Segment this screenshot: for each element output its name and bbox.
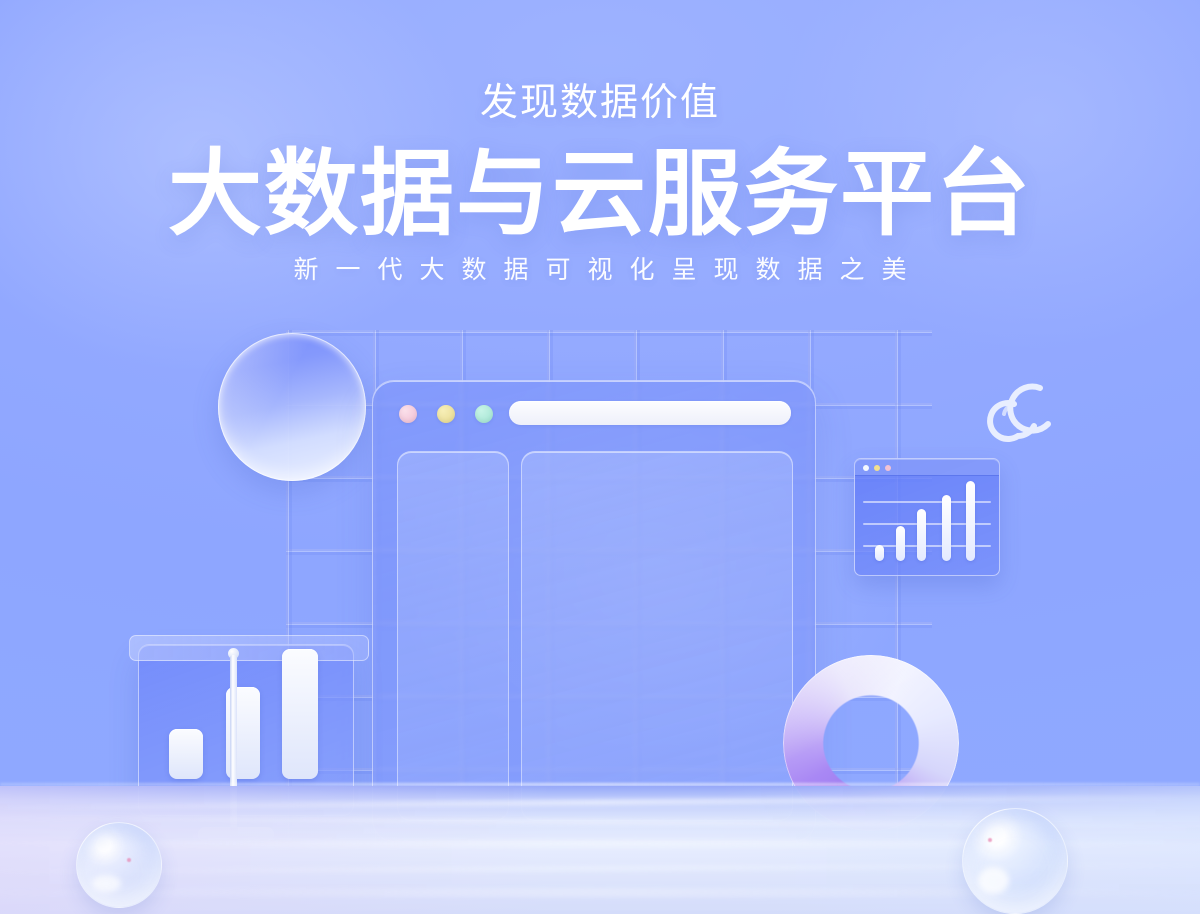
dashboard-bar — [942, 495, 951, 561]
dashboard-bar — [896, 526, 905, 561]
content-pane — [521, 451, 793, 821]
dashboard-bar — [966, 481, 975, 561]
sidebar-pane — [397, 451, 509, 821]
card-bar — [169, 729, 203, 779]
dashboard-dot-2-icon — [874, 465, 880, 471]
traffic-dot-maximize-icon[interactable] — [475, 405, 493, 423]
dashboard-dot-1-icon — [863, 465, 869, 471]
glass-disc — [218, 333, 366, 481]
hero-banner: 发现数据价值 大数据与云服务平台 新一代大数据可视化呈现数据之美 — [0, 0, 1200, 914]
card-header-bar — [129, 635, 369, 661]
disc-rim — [218, 333, 366, 481]
window-titlebar — [373, 381, 815, 439]
hero-subtitle: 新一代大数据可视化呈现数据之美 — [0, 258, 1200, 283]
glass-sphere-left — [76, 822, 162, 908]
search-input[interactable] — [509, 401, 791, 425]
hero-eyebrow: 发现数据价值 — [0, 84, 1200, 122]
sphere-highlight — [978, 867, 1009, 894]
cloud-icon — [978, 368, 1074, 450]
traffic-dot-minimize-icon[interactable] — [437, 405, 455, 423]
glass-sphere-right — [962, 808, 1068, 914]
sphere-sparkle-icon — [127, 858, 131, 862]
hero-text-block: 发现数据价值 大数据与云服务平台 新一代大数据可视化呈现数据之美 — [0, 84, 1200, 283]
dashboard-bar — [875, 545, 884, 561]
dashboard-bar — [917, 509, 926, 561]
sphere-sparkle-icon — [988, 838, 992, 842]
glass-browser-window[interactable] — [372, 380, 816, 842]
dashboard-dot-3-icon — [885, 465, 891, 471]
dashboard-widget[interactable] — [854, 458, 1000, 576]
sphere-highlight — [92, 875, 121, 892]
traffic-dot-close-icon[interactable] — [399, 405, 417, 423]
dashboard-titlebar — [855, 459, 999, 476]
page-title: 大数据与云服务平台 — [0, 146, 1200, 242]
card-bar — [282, 649, 318, 779]
